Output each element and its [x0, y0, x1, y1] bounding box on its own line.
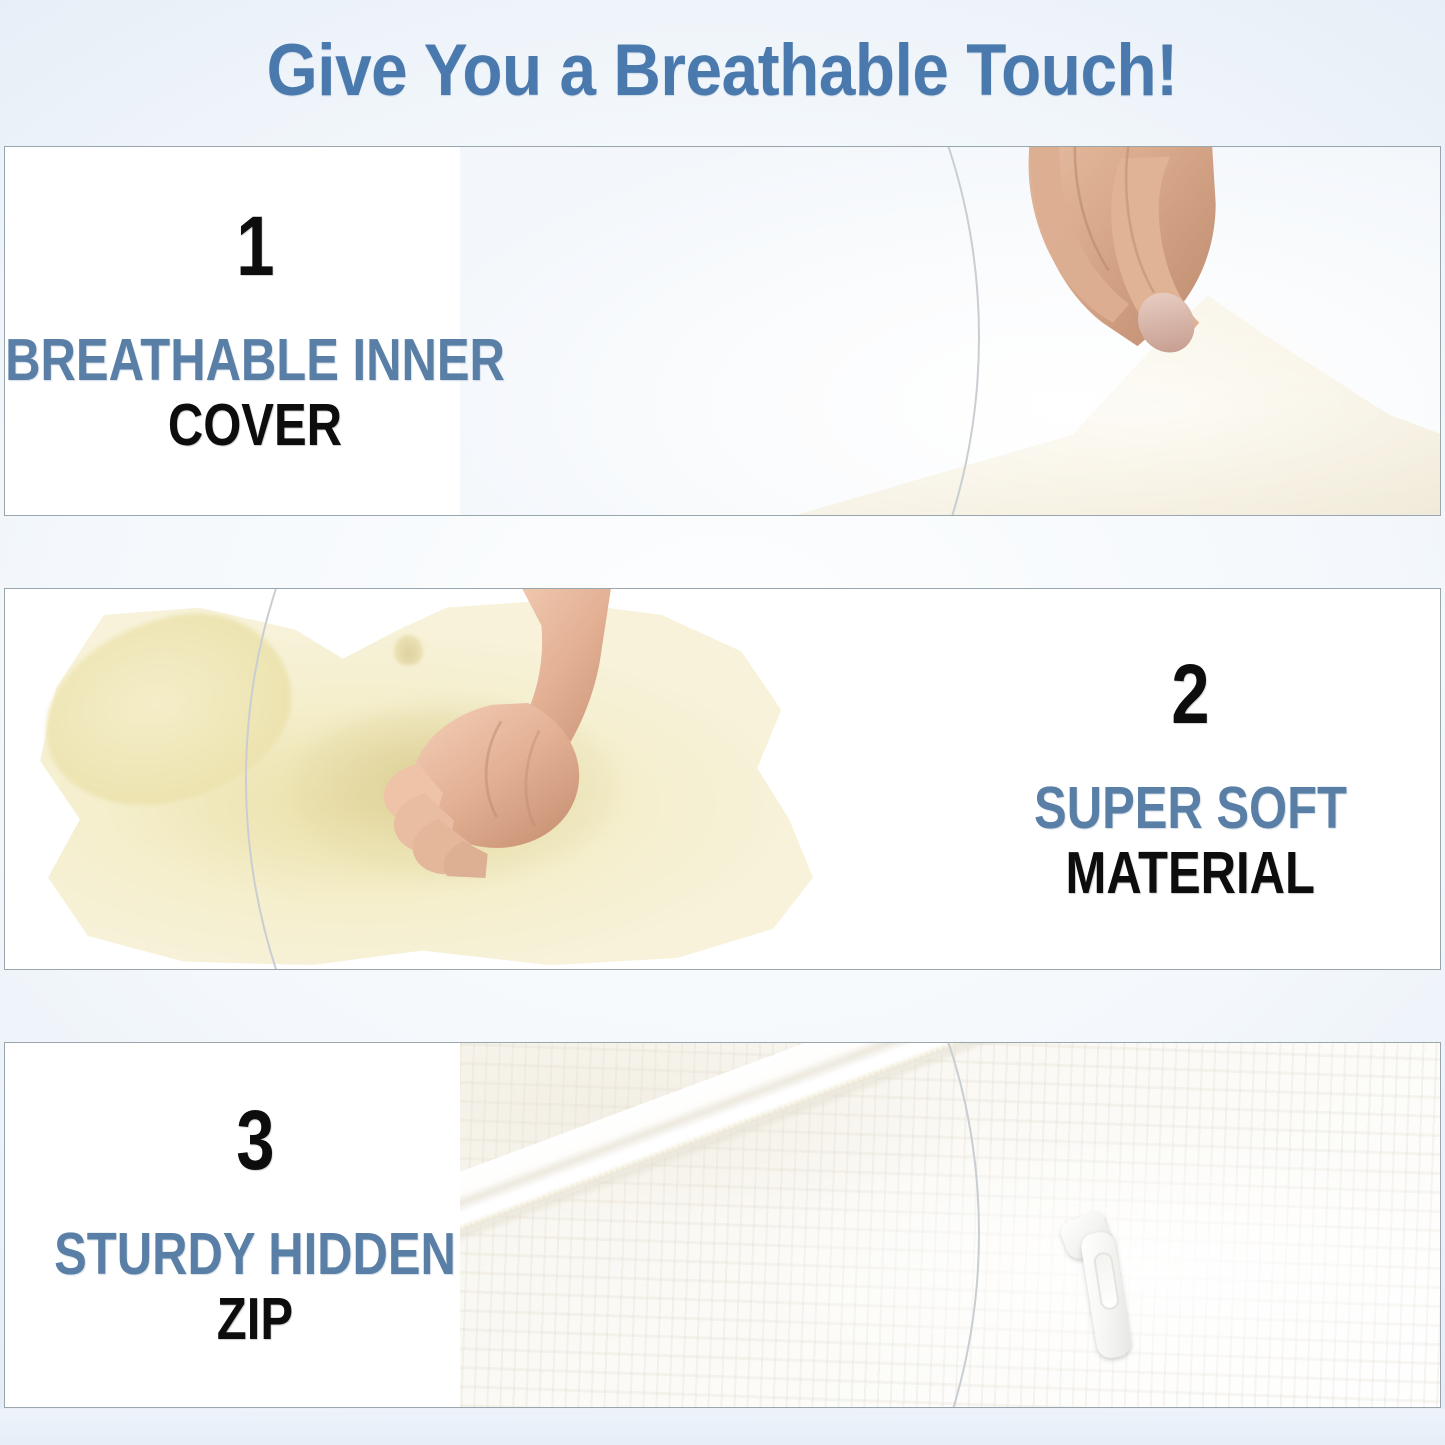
panel-3-title-black: ZIP [217, 1290, 293, 1349]
hand-pinching-fabric-icon [1014, 147, 1220, 405]
panel-2-photo [5, 589, 965, 969]
panel-1-step-number: 1 [236, 207, 274, 287]
hand-pressing-foam-icon [360, 589, 629, 878]
panel-2-title-blue: SUPER SOFT [1034, 779, 1347, 838]
panel-3-photo [460, 1043, 1440, 1407]
feature-panel-1: 1 BREATHABLE INNER COVER [4, 146, 1441, 516]
panel-1-photo [460, 147, 1440, 515]
fabric-highlight [460, 1043, 1440, 1407]
feature-panel-2: 2 SUPER SOFT MATERIAL [4, 588, 1441, 970]
panel-3-step-number: 3 [236, 1101, 274, 1181]
product-infographic: Give You a Breathable Touch! [0, 0, 1445, 1445]
page-title: Give You a Breathable Touch! [267, 29, 1178, 112]
panel-1-curve-divider [460, 147, 980, 515]
panel-2-step-number: 2 [1171, 655, 1209, 735]
feature-panel-3: 3 STURDY HIDDEN ZIP [4, 1042, 1441, 1408]
panel-1-text-block: 1 BREATHABLE INNER COVER [5, 147, 505, 515]
panel-2-title-black: MATERIAL [1065, 844, 1314, 903]
bottom-strip [0, 1409, 1445, 1445]
panel-1-title-black: COVER [168, 396, 342, 455]
panel-3-title-blue: STURDY HIDDEN [54, 1225, 456, 1284]
panel-1-title-blue: BREATHABLE INNER [5, 331, 505, 390]
header-banner: Give You a Breathable Touch! [0, 0, 1445, 140]
panel-3-text-block: 3 STURDY HIDDEN ZIP [5, 1043, 505, 1407]
panel-2-text-block: 2 SUPER SOFT MATERIAL [940, 589, 1440, 969]
